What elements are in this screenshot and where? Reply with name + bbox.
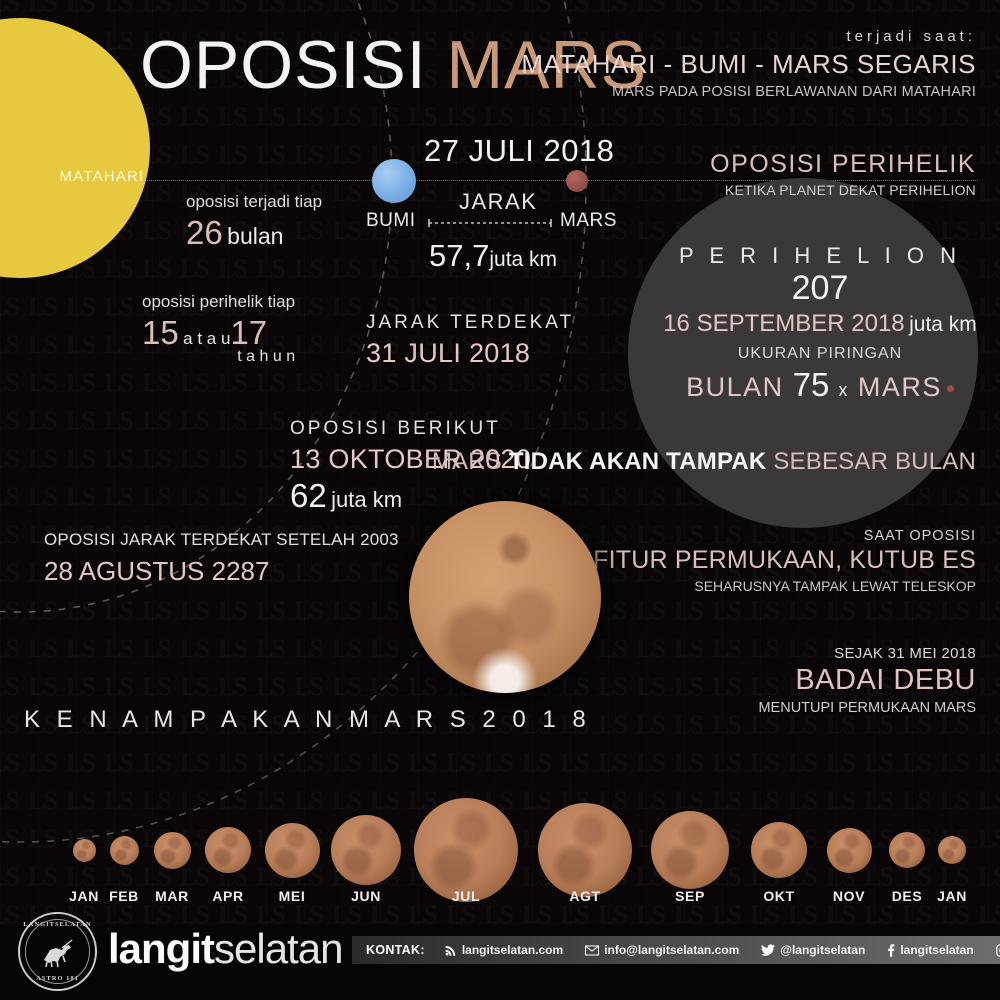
contact-item-email[interactable]: info@langitselatan.com [574, 943, 750, 957]
mars-disk-sep-8 [651, 811, 729, 889]
header-line-1: terjadi saat: [521, 28, 976, 45]
mars-disk-mar-2 [154, 832, 191, 869]
alignment-line-mid [414, 180, 568, 181]
earth-label: BUMI [366, 210, 416, 232]
fitur-line-1: SAAT OPOSISI [593, 528, 976, 544]
disk-moon-label: BULAN [686, 372, 784, 402]
disk-comparison-line: BULAN 75 x MARS [660, 366, 980, 404]
mars-photo [409, 501, 601, 693]
record-heading: OPOSISI JARAK TERDEKAT SETELAH 2003 [44, 530, 399, 550]
brand-selatan: selatan [214, 925, 342, 972]
stat-closest-distance: JARAK TERDEKAT 31 JULI 2018 [366, 312, 574, 369]
earth-planet-dot [372, 159, 416, 203]
distance-value: 57,7juta km [429, 238, 557, 274]
instagram-icon [996, 944, 1000, 957]
contact-item-instagram[interactable]: langitselatanmedia [985, 943, 1000, 957]
kontak-label: KONTAK: [352, 943, 433, 957]
fitur-line-2: FITUR PERMUKAAN, KUTUB ES [593, 546, 976, 575]
stat-record-opposition: OPOSISI JARAK TERDEKAT SETELAH 2003 28 A… [44, 530, 399, 587]
fitur-line-3: SEHARUSNYA TAMPAK LEWAT TELESKOP [593, 578, 976, 594]
mars-disk-jan-12 [938, 836, 966, 864]
mars-disk-feb-1 [110, 836, 139, 865]
contact-text-0: langitselatan.com [462, 943, 563, 957]
brand-wordmark: langitselatan [108, 925, 342, 973]
perihelion-unit: juta km [909, 313, 977, 336]
disk-times-symbol: x [838, 380, 849, 400]
surface-features-block: SAAT OPOSISI FITUR PERMUKAAN, KUTUB ES S… [593, 528, 976, 594]
perihelion-date: 16 SEPTEMBER 2018 [663, 310, 904, 337]
langitselatan-logo: LANGITSELATAN ASTRO 101 [18, 912, 97, 991]
perihelion-label: P E R I H E L I O N [679, 243, 961, 269]
dust-storm-block: SEJAK 31 MEI 2018 BADAI DEBU MENUTUPI PE… [758, 645, 976, 716]
disk-size-comparison: UKURAN PIRINGAN BULAN 75 x MARS [660, 345, 980, 404]
header-line-3: MARS PADA POSISI BERLAWANAN DARI MATAHAR… [521, 84, 976, 100]
logo-bottom-text: ASTRO 101 [20, 975, 95, 982]
contact-text-3: langitselatan [900, 943, 973, 957]
opp-interval-value: 26 [186, 214, 223, 251]
disk-caption: UKURAN PIRINGAN [660, 345, 980, 363]
badai-line-1: SEJAK 31 MEI 2018 [758, 645, 976, 662]
month-label-mei-4: MEI [279, 888, 306, 904]
logo-top-text: LANGITSELATAN [20, 921, 95, 928]
peri-conjunction: a t a u [183, 329, 230, 348]
stat-opposition-interval: oposisi terjadi tiap 26 bulan [186, 192, 322, 252]
month-label-jun-5: JUN [351, 888, 381, 904]
title-part-oposisi: OPOSISI [140, 27, 427, 103]
bottom-row-heading: K E N A M P A K A N M A R S 2 0 1 8 [24, 706, 591, 734]
brand-langit: langit [108, 925, 214, 972]
mars-disk-apr-3 [205, 827, 251, 873]
next-heading: OPOSISI BERIKUT [290, 418, 531, 440]
closest-date: 31 JULI 2018 [366, 338, 574, 369]
disk-factor: 75 [793, 366, 830, 403]
centaur-icon [38, 936, 78, 968]
contact-text-2: @langitselatan [780, 943, 865, 957]
mars-disk-jun-5 [331, 815, 401, 885]
mars-not-as-big-statement: MARS TIDAK AKAN TAMPAK SEBESAR BULAN [432, 448, 976, 476]
month-label-apr-3: APR [212, 888, 243, 904]
badai-line-3: MENUTUPI PERMUKAAN MARS [758, 700, 976, 716]
perihelik-heading: OPOSISI PERIHELIK [710, 150, 976, 179]
header-block: terjadi saat: MATAHARI - BUMI - MARS SEG… [521, 28, 976, 100]
opp-interval-unit: bulan [227, 223, 283, 249]
closest-heading: JARAK TERDEKAT [366, 312, 574, 334]
jarak-label: JARAK [459, 189, 537, 215]
record-date: 28 AGUSTUS 2287 [44, 556, 399, 587]
month-label-nov-10: NOV [833, 888, 865, 904]
mars-disk-jan-0 [73, 839, 96, 862]
month-label-jul-6: JUL [452, 888, 480, 904]
statement-bold: TIDAK AKAN TAMPAK [509, 448, 767, 475]
peri-value-b: 17 [230, 314, 267, 351]
perihelik-sub: KETIKA PLANET DEKAT PERIHELION [710, 182, 976, 198]
email-icon [585, 945, 599, 956]
month-label-okt-9: OKT [763, 888, 794, 904]
mars-size-chart: JANFEBMARAPRMEIJUNJULAGTSEPOKTNOVDESJAN [0, 760, 1000, 910]
month-label-des-11: DES [892, 888, 923, 904]
mars-disk-nov-10 [827, 828, 872, 873]
disk-mars-label: MARS [858, 372, 942, 402]
mars-planet-dot [566, 170, 588, 192]
month-label-mar-2: MAR [155, 888, 189, 904]
perihelion-details: P E R I H E L I O N 207 16 SEPTEMBER 201… [660, 243, 980, 338]
mars-dot-icon [947, 385, 954, 392]
perihelik-heading-block: OPOSISI PERIHELIK KETIKA PLANET DEKAT PE… [710, 150, 976, 198]
badai-line-2: BADAI DEBU [758, 664, 976, 697]
month-label-sep-8: SEP [675, 888, 705, 904]
mars-disk-mei-4 [265, 823, 320, 878]
twitter-icon [761, 944, 775, 956]
contact-item-twitter[interactable]: @langitselatan [750, 943, 876, 957]
sun-label: MATAHARI [42, 168, 162, 185]
peri-interval-caption: oposisi perihelik tiap [142, 292, 295, 312]
header-line-2: MATAHARI - BUMI - MARS SEGARIS [521, 49, 976, 80]
distance-number: 57,7 [429, 238, 489, 273]
month-label-feb-1: FEB [109, 888, 139, 904]
next-distance-value: 62 [290, 477, 327, 514]
mars-disk-des-11 [889, 832, 925, 868]
statement-pre: MARS [432, 448, 509, 475]
perihelion-value: 207 [792, 269, 849, 307]
infographic-poster: LSLSLSLSLSLSLSLSLSLSLSLSLSLSLSLSLSLSLSLS… [0, 0, 1000, 1000]
statement-post: SEBESAR BULAN [766, 448, 976, 475]
month-label-jan-12: JAN [937, 888, 967, 904]
stat-perihelic-interval: oposisi perihelik tiap 15 a t a u17 t a … [142, 292, 295, 366]
mars-disk-okt-9 [751, 822, 807, 878]
month-label-jan-0: JAN [69, 888, 99, 904]
next-distance-unit: juta km [331, 487, 402, 512]
opp-interval-caption: oposisi terjadi tiap [186, 192, 322, 212]
facebook-icon [887, 944, 895, 957]
mars-label: MARS [560, 210, 617, 232]
opposition-date: 27 JULI 2018 [424, 133, 614, 169]
mars-disk-jul-6 [414, 798, 518, 902]
mars-disk-agt-7 [538, 803, 632, 897]
contact-item-rss[interactable]: langitselatan.com [433, 943, 574, 957]
month-label-agt-7: AGT [569, 888, 600, 904]
contact-item-facebook[interactable]: langitselatan [876, 943, 984, 957]
distance-unit: juta km [489, 248, 557, 271]
rss-icon [444, 944, 457, 957]
contact-bar: KONTAK: langitselatan.cominfo@langitsela… [352, 936, 1000, 964]
contact-text-1: info@langitselatan.com [604, 943, 739, 957]
peri-value-a: 15 [142, 314, 179, 351]
distance-measure-line [428, 218, 552, 228]
